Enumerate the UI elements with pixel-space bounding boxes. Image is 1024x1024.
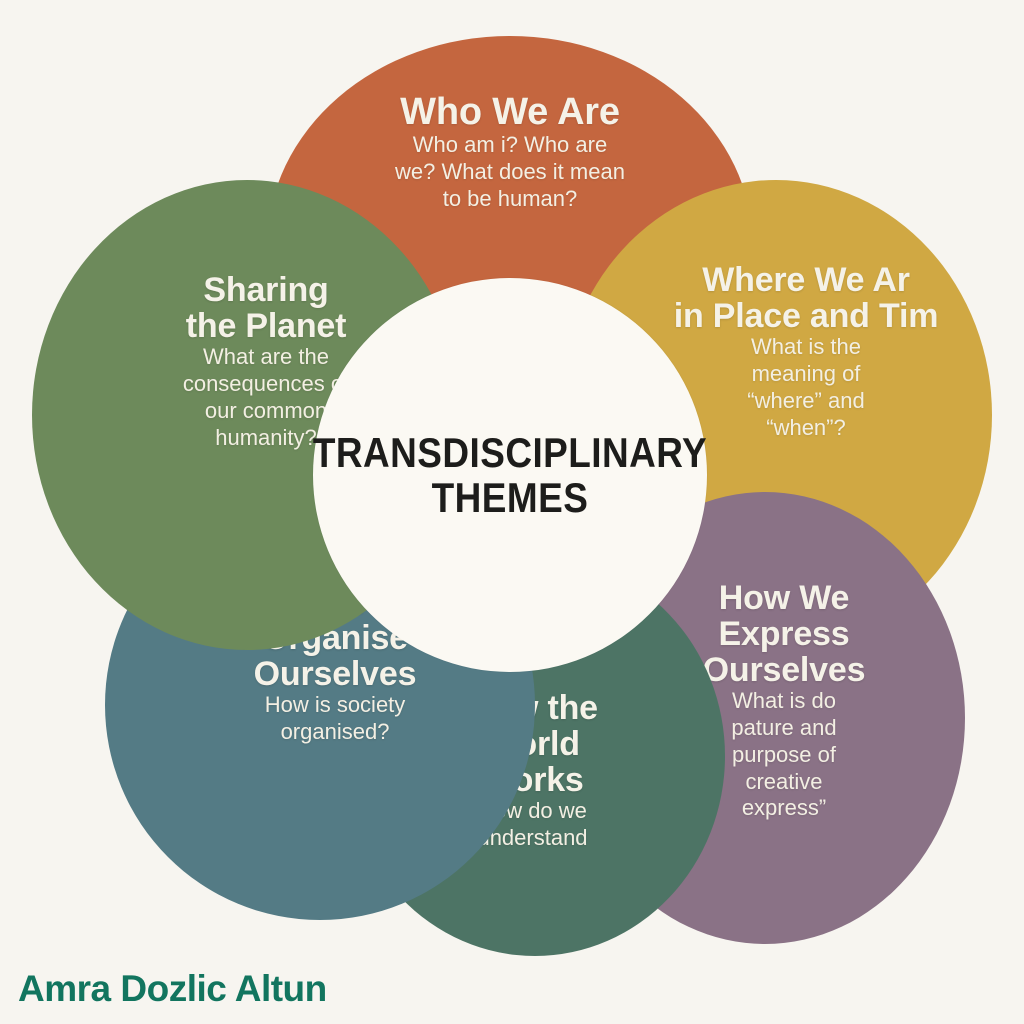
petal-how-we-organise-subtitle: How is society organised? bbox=[141, 692, 529, 746]
author-signature: Amra Dozlic Altun bbox=[18, 968, 327, 1010]
infographic-canvas: Who We Are Who am i? Who are we? What do… bbox=[0, 0, 1024, 1024]
petal-who-we-are-subtitle: Who am i? Who are we? What does it mean … bbox=[273, 132, 747, 212]
center-hub: TRANSDISCIPLINARY THEMES bbox=[313, 278, 707, 672]
petal-who-we-are-text: Who We Are Who am i? Who are we? What do… bbox=[267, 92, 753, 213]
center-hub-label: TRANSDISCIPLINARY THEMES bbox=[313, 430, 707, 521]
petal-who-we-are-title: Who We Are bbox=[273, 92, 747, 132]
petal-where-we-are-title: Where We Ar in Place and Tim bbox=[626, 262, 986, 334]
